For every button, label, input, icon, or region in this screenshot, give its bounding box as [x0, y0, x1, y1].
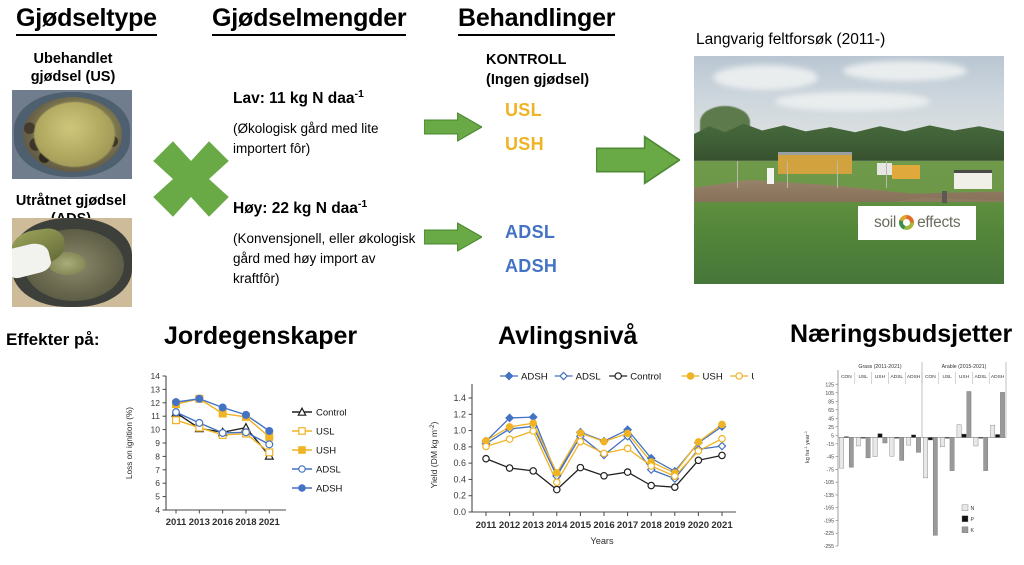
chart-text: 0.2	[453, 491, 466, 501]
data-point-marker	[530, 420, 536, 426]
chart-text: K	[971, 528, 975, 534]
chart-text: USH	[959, 374, 970, 380]
chart-text: -195	[824, 518, 834, 524]
chart-text: N	[971, 506, 975, 512]
amount-high-sup: -1	[358, 198, 367, 210]
bar	[883, 437, 887, 443]
bar	[984, 437, 988, 470]
bar	[962, 434, 966, 437]
chart-text: 85	[828, 399, 834, 405]
chart-text: 125	[825, 382, 834, 388]
multiplication-cross-icon	[146, 134, 236, 224]
chart-text: 2013	[523, 520, 544, 531]
treatment-adsl: ADSL	[505, 222, 555, 243]
chart-nutrient-svg: 125105856545255-15-45-75-105-135-165-195…	[800, 358, 1015, 558]
svg-text:Yield (DM kg m-2): Yield (DM kg m-2)	[429, 421, 440, 488]
chart-text: 2017	[617, 520, 638, 531]
bar	[957, 425, 961, 438]
bar	[995, 434, 999, 437]
chart-text: -45	[827, 455, 835, 461]
svg-text:kg ha-1 year-1: kg ha-1 year-1	[804, 431, 811, 463]
data-point-marker	[577, 464, 583, 470]
data-point-marker	[530, 468, 536, 474]
chart-text: 45	[828, 416, 834, 422]
y-axis-label: kg ha-1 year-1	[804, 431, 811, 463]
chart-text: 0.8	[453, 442, 466, 452]
chart-text: Arable (2015-2021)	[942, 364, 987, 370]
data-point-marker	[196, 420, 203, 427]
legend-swatch	[962, 505, 968, 511]
chart-text: Years	[590, 536, 614, 546]
label-digested-line1: Utråtnet gjødsel	[1, 192, 141, 210]
chart-text: P	[971, 517, 975, 523]
bar	[839, 437, 843, 468]
field-pole	[886, 161, 887, 188]
chart-text: 2012	[499, 520, 520, 531]
bar	[1000, 392, 1004, 437]
treatment-adsh: ADSH	[505, 256, 557, 277]
chart-text: ADSH	[521, 371, 548, 382]
house-white	[877, 163, 893, 174]
amount-high-title: Høy: 22 kg N daa-1	[233, 200, 367, 218]
chart-text: ADSL	[316, 464, 341, 475]
chart-text: USL	[316, 426, 334, 437]
treatment-usl: USL	[505, 100, 542, 121]
barn-building	[778, 152, 852, 174]
amount-high-title-text: Høy: 22 kg N daa	[233, 200, 358, 217]
slide-root: Gjødseltype Gjødselmengder Behandlinger …	[0, 0, 1024, 563]
data-point-marker	[554, 486, 560, 492]
chart-text: 0.6	[453, 458, 466, 468]
data-point-marker	[624, 430, 630, 436]
chart-text: -15	[827, 442, 835, 448]
chart-text: 25	[828, 425, 834, 431]
bucket-digested	[12, 218, 132, 307]
bar	[967, 391, 971, 437]
data-point-marker	[266, 428, 273, 435]
chart-text: 2018	[235, 517, 256, 528]
cloud	[713, 65, 818, 90]
series-line	[486, 423, 722, 473]
chart-text: -105	[824, 480, 834, 486]
label-untreated-manure: Ubehandlet gjødsel (US)	[3, 50, 143, 86]
chart-text: ADSL	[891, 374, 904, 380]
data-point-marker	[299, 428, 305, 434]
series-line	[486, 417, 722, 475]
chart-yield-svg: 0.00.20.40.60.81.01.21.42011201220132014…	[424, 360, 754, 560]
data-point-marker	[506, 465, 512, 471]
data-point-marker	[718, 442, 725, 449]
data-point-marker	[719, 452, 725, 458]
chart-text: 6	[155, 478, 160, 488]
arrow-right-icon-high	[424, 222, 482, 252]
chart-text: 12	[151, 398, 161, 408]
y-axis-label: Yield (DM kg m-2)	[429, 421, 440, 488]
cloud	[775, 92, 930, 110]
chart-text: 0.4	[453, 474, 466, 484]
chart-text: 9	[155, 438, 160, 448]
chart-text: 13	[151, 384, 161, 394]
bar	[873, 437, 877, 456]
data-point-marker	[560, 372, 567, 379]
data-point-marker	[173, 399, 180, 406]
heading-manure-amounts: Gjødselmengder	[212, 4, 406, 36]
data-point-marker	[601, 473, 607, 479]
bar	[895, 437, 899, 438]
chart-text: CON	[925, 374, 936, 380]
logo-ring-icon	[899, 215, 914, 230]
bar	[856, 437, 860, 446]
chart-text: -255	[824, 544, 834, 550]
bar	[911, 435, 915, 438]
data-point-marker	[719, 421, 725, 427]
person-in-field	[767, 168, 774, 184]
data-point-marker	[695, 448, 701, 454]
chart-text: 14	[151, 371, 161, 381]
field-pole	[837, 161, 838, 188]
treatment-control-line1: KONTROLL	[486, 50, 589, 70]
data-point-marker	[624, 469, 630, 475]
data-point-marker	[219, 430, 226, 437]
data-point-marker	[483, 455, 489, 461]
section-title-yield: Avlingsnivå	[498, 322, 637, 351]
chart-text: ADSH	[907, 374, 921, 380]
chart-text: 7	[155, 465, 160, 475]
chart-text: 2019	[664, 520, 685, 531]
bar	[979, 437, 983, 438]
field-pole	[787, 161, 788, 188]
data-point-marker	[299, 447, 305, 453]
amount-low-subtext: (Økologisk gård med lite importert fôr)	[233, 119, 419, 159]
chart-text: -165	[824, 506, 834, 512]
chart-text: 105	[825, 391, 834, 397]
data-point-marker	[687, 373, 693, 379]
bar	[950, 437, 954, 470]
chart-text: 5	[831, 433, 834, 439]
data-point-marker	[219, 404, 226, 411]
chart-soil-properties: 456789101112131420112013201620182021Loss…	[120, 366, 350, 556]
chart-text: 2021	[259, 517, 281, 528]
chart-text: 11	[151, 411, 160, 421]
effects-label: Effekter på:	[6, 330, 100, 350]
cloud	[843, 61, 967, 82]
house-far	[954, 170, 991, 189]
chart-text: CON	[841, 374, 852, 380]
data-point-marker	[695, 457, 701, 463]
chart-text: 2020	[688, 520, 709, 531]
treatment-ush: USH	[505, 134, 544, 155]
data-point-marker	[648, 482, 654, 488]
bar	[923, 437, 927, 477]
data-point-marker	[173, 417, 180, 424]
chart-text: USH	[703, 371, 723, 382]
chart-text: ADSL	[975, 374, 988, 380]
data-point-marker	[695, 439, 701, 445]
chart-text: Control	[316, 407, 347, 418]
field-pole	[737, 161, 738, 188]
chart-text: 1.0	[453, 426, 466, 436]
data-point-marker	[505, 372, 512, 379]
chart-yield: 0.00.20.40.60.81.01.21.42011201220132014…	[424, 360, 754, 560]
data-point-marker	[672, 484, 678, 490]
logo-text-left: soil	[874, 214, 896, 232]
amount-low-title: Lav: 11 kg N daa-1	[233, 90, 364, 108]
chart-text: 65	[828, 408, 834, 414]
bar	[991, 425, 995, 437]
chart-text: 2016	[593, 520, 614, 531]
chart-text: 1.2	[453, 409, 466, 419]
chart-text: Grass (2011-2021)	[858, 364, 901, 370]
house-yellow	[892, 165, 920, 179]
data-point-marker	[243, 411, 250, 418]
chart-text: USL	[859, 374, 869, 380]
bar	[861, 437, 865, 438]
data-point-marker	[624, 445, 630, 451]
bar	[928, 437, 932, 440]
data-point-marker	[554, 479, 560, 485]
amount-low-sup: -1	[354, 88, 363, 100]
data-point-marker	[299, 485, 305, 491]
bar	[890, 437, 894, 456]
person-in-field	[942, 191, 947, 204]
data-point-marker	[266, 449, 273, 456]
section-title-nutrient: Næringsbudsjetter	[790, 320, 1012, 349]
chart-text: 2021	[711, 520, 733, 531]
chart-text: 4	[155, 505, 160, 515]
data-point-marker	[577, 430, 583, 436]
chart-text: USL	[943, 374, 953, 380]
data-point-marker	[196, 395, 203, 402]
data-point-marker	[506, 424, 512, 430]
data-point-marker	[506, 436, 512, 442]
chart-nutrient-budget: 125105856545255-15-45-75-105-135-165-195…	[800, 358, 1015, 558]
arrow-right-icon-low	[424, 112, 482, 142]
amount-low-title-text: Lav: 11 kg N daa	[233, 90, 354, 107]
data-point-marker	[672, 473, 678, 479]
bucket-untreated	[12, 90, 132, 179]
data-point-marker	[299, 466, 305, 472]
data-point-marker	[719, 436, 725, 442]
arrow-right-icon-field	[596, 135, 680, 185]
chart-text: USL	[751, 371, 754, 382]
bar	[933, 437, 937, 535]
chart-text: 8	[155, 451, 160, 461]
heading-treatments: Behandlinger	[458, 4, 615, 36]
photo-digested-manure	[12, 218, 132, 307]
chart-text: USH	[316, 445, 336, 456]
data-point-marker	[173, 409, 180, 416]
bar	[907, 437, 911, 445]
manure-slurry	[34, 102, 116, 166]
data-point-marker	[601, 450, 607, 456]
treatment-control-block: KONTROLL (Ingen gjødsel)	[486, 50, 589, 90]
bar	[878, 434, 882, 438]
chart-text: 5	[155, 492, 160, 502]
chart-text: 2011	[166, 517, 187, 528]
data-point-marker	[554, 470, 560, 476]
bar	[900, 437, 904, 460]
bar	[866, 437, 870, 457]
chart-text: 0.0	[453, 507, 466, 517]
chart-text: 1.4	[453, 393, 466, 403]
data-point-marker	[577, 438, 583, 444]
data-point-marker	[736, 373, 742, 379]
chart-text: ADSH	[316, 483, 343, 494]
heading-manure-type: Gjødseltype	[16, 4, 157, 36]
data-point-marker	[530, 428, 536, 434]
data-point-marker	[483, 443, 489, 449]
data-point-marker	[615, 373, 621, 379]
data-point-marker	[601, 438, 607, 444]
chart-text: USH	[875, 374, 886, 380]
chart-soil-svg: 456789101112131420112013201620182021Loss…	[120, 366, 350, 556]
soil-effects-logo: soil effects	[858, 206, 976, 239]
data-point-marker	[648, 463, 654, 469]
bar	[849, 437, 853, 467]
chart-text: 10	[151, 425, 161, 435]
chart-text: 2018	[641, 520, 663, 531]
chart-text: ADSL	[576, 371, 602, 382]
treatment-control-line2: (Ingen gjødsel)	[486, 70, 589, 90]
photo-untreated-manure	[12, 90, 132, 179]
chart-text: -75	[827, 467, 835, 473]
field-photo-caption: Langvarig feltforsøk (2011-)	[696, 31, 885, 49]
chart-text: ADSH	[991, 374, 1005, 380]
chart-text: Loss on ignition (%)	[125, 407, 134, 479]
field-trial-photo: soil effects	[694, 56, 1004, 284]
bar	[945, 437, 949, 438]
bar	[916, 437, 920, 452]
legend-swatch	[962, 516, 968, 522]
chart-text: 2015	[570, 520, 592, 531]
chart-text: 2013	[189, 517, 210, 528]
bar	[844, 437, 848, 438]
chart-text: -225	[824, 531, 834, 537]
section-title-soil: Jordegenskaper	[164, 322, 357, 351]
chart-text: Control	[630, 371, 661, 382]
chart-text: -135	[824, 493, 834, 499]
logo-text-right: effects	[917, 214, 960, 232]
legend-swatch	[962, 527, 968, 533]
chart-text: 2014	[546, 520, 568, 531]
data-point-marker	[266, 441, 273, 448]
amount-high-subtext: (Konvensjonell, eller økologisk gård med…	[233, 229, 419, 289]
chart-text: 2016	[212, 517, 233, 528]
label-untreated-line1: Ubehandlet	[3, 50, 143, 68]
chart-text: 2011	[476, 520, 497, 531]
bar	[974, 437, 978, 446]
bar	[940, 437, 944, 446]
label-untreated-line2: gjødsel (US)	[3, 68, 143, 86]
data-point-marker	[243, 429, 250, 436]
